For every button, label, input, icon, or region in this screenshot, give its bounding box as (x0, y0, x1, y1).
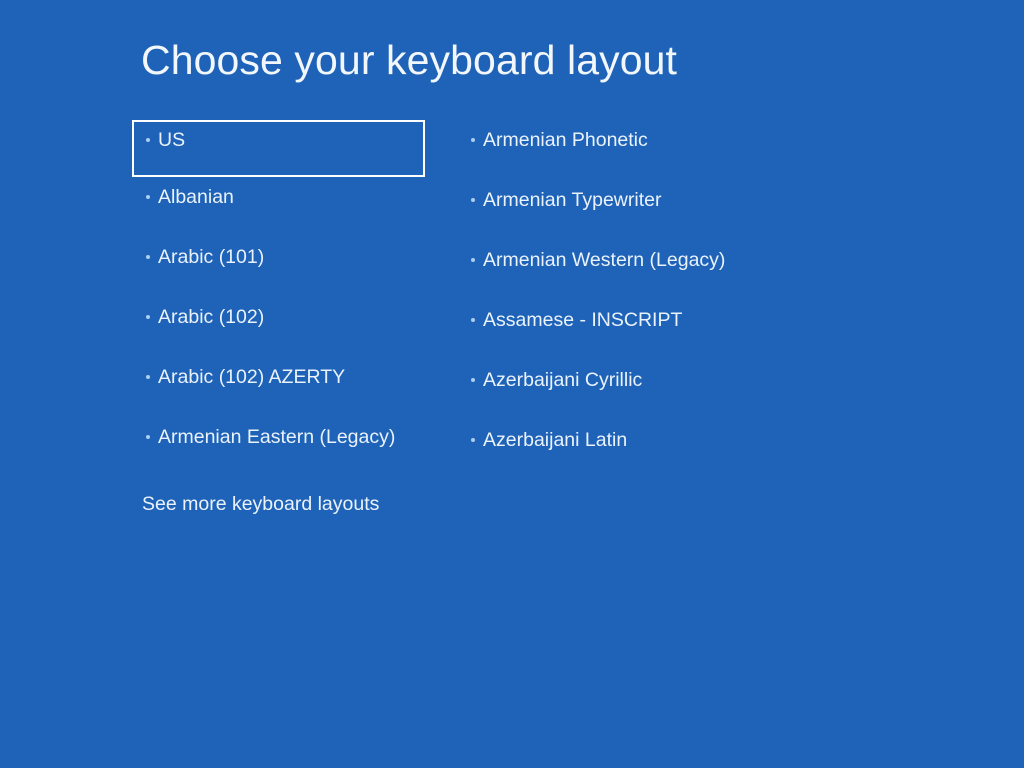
keyboard-layout-option-label: Azerbaijani Latin (483, 429, 627, 451)
keyboard-layout-option[interactable]: Armenian Phonetic (457, 120, 787, 180)
bullet-icon (468, 369, 478, 391)
bullet-icon (143, 426, 153, 448)
keyboard-layout-option-label: Albanian (158, 186, 234, 208)
keyboard-layout-option-label: Assamese - INSCRIPT (483, 309, 682, 331)
see-more-keyboard-layouts-link[interactable]: See more keyboard layouts (142, 493, 379, 515)
keyboard-layout-option[interactable]: Azerbaijani Latin (457, 420, 787, 480)
bullet-icon (468, 309, 478, 331)
bullet-icon (143, 186, 153, 208)
keyboard-layout-option-label: Arabic (101) (158, 246, 264, 268)
keyboard-layout-option-label: Armenian Eastern (Legacy) (158, 426, 395, 448)
keyboard-layout-option-label: Azerbaijani Cyrillic (483, 369, 642, 391)
keyboard-layout-list: USAlbanianArabic (101)Arabic (102)Arabic… (0, 0, 1024, 768)
keyboard-layout-option[interactable]: Assamese - INSCRIPT (457, 300, 787, 360)
keyboard-layout-option[interactable]: Arabic (101) (132, 237, 432, 297)
keyboard-layout-option-label: Armenian Phonetic (483, 129, 648, 151)
keyboard-layout-screen: Choose your keyboard layout USAlbanianAr… (0, 0, 1024, 768)
bullet-icon (143, 246, 153, 268)
bullet-icon (143, 366, 153, 388)
keyboard-layout-column-left: USAlbanianArabic (101)Arabic (102)Arabic… (132, 120, 432, 477)
keyboard-layout-option[interactable]: Arabic (102) AZERTY (132, 357, 432, 417)
bullet-icon (468, 249, 478, 271)
keyboard-layout-option-label: Arabic (102) AZERTY (158, 366, 345, 388)
keyboard-layout-column-right: Armenian PhoneticArmenian TypewriterArme… (457, 120, 787, 480)
keyboard-layout-option[interactable]: Armenian Typewriter (457, 180, 787, 240)
bullet-icon (468, 429, 478, 451)
keyboard-layout-option[interactable]: Arabic (102) (132, 297, 432, 357)
keyboard-layout-option-label: Armenian Western (Legacy) (483, 249, 725, 271)
keyboard-layout-option-label: US (158, 129, 185, 151)
keyboard-layout-option-label: Arabic (102) (158, 306, 264, 328)
bullet-icon (468, 189, 478, 211)
bullet-icon (143, 306, 153, 328)
bullet-icon (468, 129, 478, 151)
keyboard-layout-option[interactable]: Armenian Western (Legacy) (457, 240, 787, 300)
keyboard-layout-option[interactable]: Armenian Eastern (Legacy) (132, 417, 432, 477)
keyboard-layout-option[interactable]: Albanian (132, 177, 432, 237)
keyboard-layout-option[interactable]: Azerbaijani Cyrillic (457, 360, 787, 420)
bullet-icon (143, 129, 153, 151)
keyboard-layout-option-label: Armenian Typewriter (483, 189, 661, 211)
keyboard-layout-option[interactable]: US (132, 120, 425, 177)
